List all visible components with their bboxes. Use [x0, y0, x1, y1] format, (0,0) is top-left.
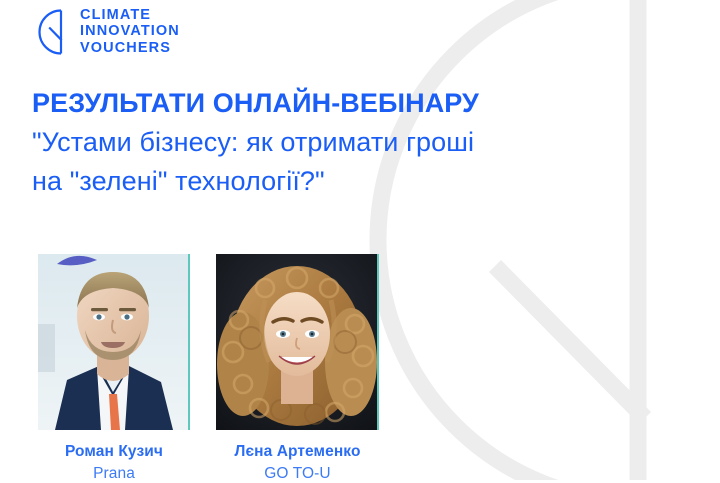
logo-word-vouchers: VOUCHERS [80, 41, 180, 57]
logo-word-innovation: INNOVATION [80, 24, 180, 40]
speaker-name: Роман Кузич [38, 443, 190, 461]
speaker-org: Prana [38, 465, 190, 483]
logo-word-climate: CLIMATE [80, 8, 180, 24]
headline-line-1: РЕЗУЛЬТАТИ ОНЛАЙН-ВЕБІНАРУ [32, 84, 632, 123]
page-title: РЕЗУЛЬТАТИ ОНЛАЙН-ВЕБІНАРУ "Устами бізне… [32, 84, 632, 201]
speaker-photo-lena-artemenko [216, 254, 379, 430]
climate-innovation-vouchers-logo-mark [28, 6, 72, 58]
speaker-card: Лєна Артеменко GO TO-U [216, 254, 379, 483]
brand-logo: CLIMATE INNOVATION VOUCHERS [28, 6, 180, 58]
speaker-org: GO TO-U [216, 465, 379, 483]
speaker-photo-roman-kuzych [38, 254, 190, 430]
speakers-list: Роман Кузич Prana [38, 254, 379, 483]
logo-wordmark: CLIMATE INNOVATION VOUCHERS [80, 8, 180, 57]
headline-line-2: "Устами бізнесу: як отримати гроші [32, 123, 632, 162]
headline-line-3: на "зелені" технології?" [32, 162, 632, 201]
speaker-card: Роман Кузич Prana [38, 254, 190, 483]
speaker-name: Лєна Артеменко [216, 443, 379, 461]
